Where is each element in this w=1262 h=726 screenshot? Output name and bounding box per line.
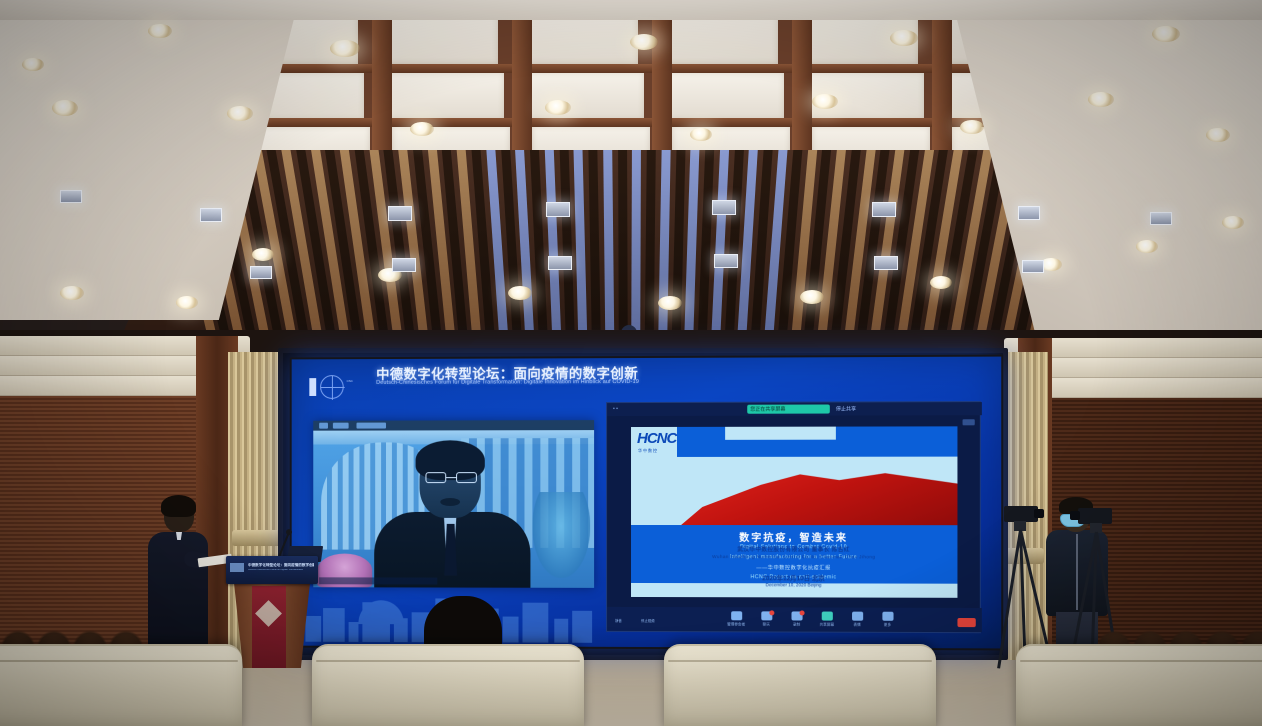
recessed-downlight-icon — [1206, 128, 1230, 142]
ceiling-slat — [631, 150, 641, 340]
more-icon — [882, 612, 893, 621]
titlebar-dots: • • — [613, 406, 618, 412]
chair-back — [312, 644, 584, 726]
square-ceiling-light-icon — [874, 256, 898, 270]
app-window-controls[interactable] — [963, 419, 975, 425]
conference-hall-scene: CSC 中德数字化转型论坛：面向疫情的数字创新 Deutsch-Chinesis… — [0, 0, 1262, 726]
toolbar-label: 共享屏幕 — [816, 623, 838, 628]
end-meeting-button[interactable] — [957, 618, 975, 627]
ceiling — [0, 0, 1262, 345]
square-ceiling-light-icon — [548, 256, 572, 270]
recessed-downlight-icon — [1222, 216, 1244, 229]
toolbar-mic-icon[interactable]: 静音 — [615, 609, 622, 627]
recessed-downlight-icon — [60, 286, 84, 300]
toolbar-label: 更多 — [876, 623, 898, 628]
screen-share-text: 您正在共享屏幕 — [750, 405, 829, 413]
hcnc-logo-mark: HCNC — [637, 431, 676, 446]
ceiling-slat — [559, 150, 576, 340]
toolbar-label: 静音 — [615, 619, 622, 623]
square-ceiling-light-icon — [388, 206, 412, 221]
ceiling-panel — [526, 72, 644, 120]
square-ceiling-light-icon — [714, 254, 738, 268]
toolbar-record-icon[interactable]: 录制 — [785, 611, 807, 627]
ceiling-beam — [932, 0, 952, 175]
hcnc-logo-sub: 华中数控 — [638, 448, 658, 454]
recessed-downlight-icon — [658, 296, 682, 310]
square-ceiling-light-icon — [1018, 206, 1040, 220]
recessed-downlight-icon — [22, 58, 44, 71]
ceiling-beam — [372, 0, 392, 175]
notification-badge — [769, 610, 774, 615]
speaker-mouth — [440, 498, 460, 506]
square-ceiling-light-icon — [392, 258, 416, 272]
square-ceiling-light-icon — [546, 202, 570, 217]
remote-speaker-video-tile[interactable] — [313, 420, 594, 588]
chair-back — [1016, 644, 1262, 726]
recessed-downlight-icon — [630, 34, 658, 50]
recessed-downlight-icon — [52, 100, 78, 116]
toolbar-share-screen-icon[interactable]: 共享屏幕 — [816, 612, 838, 628]
led-video-wall[interactable]: CSC 中德数字化转型论坛：面向疫情的数字创新 Deutsch-Chinesis… — [290, 355, 1004, 651]
recessed-downlight-icon — [330, 40, 360, 57]
recessed-downlight-icon — [545, 100, 571, 115]
recessed-downlight-icon — [890, 30, 918, 46]
lectern-banner-subtitle: Deutsch-Chinesisches Forum für Digitale … — [248, 569, 314, 571]
chair-back — [0, 644, 242, 726]
toolbar-participants-icon[interactable]: 管理参会者 — [725, 611, 747, 627]
square-ceiling-light-icon — [200, 208, 222, 222]
recessed-downlight-icon — [1136, 240, 1158, 253]
ceiling-panel — [386, 72, 504, 120]
toolbar-more-icon[interactable]: 更多 — [876, 612, 898, 628]
lectern-banner-logo-icon — [230, 563, 244, 572]
skyline-building — [554, 619, 568, 643]
presentation-slide: HCNC 华中数控 数字抗疫，智造未来 Digital Solutions to… — [631, 426, 957, 597]
slide-presenter-cn: 武汉华中数控股份有限公司 董事长 陈吉红 — [631, 545, 957, 553]
recessed-downlight-icon — [227, 106, 253, 121]
notification-badge — [800, 610, 805, 615]
forum-subtitle: Deutsch-Chinesisches Forum für Digitale … — [376, 379, 724, 386]
toolbar-label: 停止视频 — [641, 619, 655, 623]
meeting-app-window[interactable]: • • 您正在共享屏幕 停止共享 HCNC 华中数控 数字抗疫，智造未来 Dig… — [606, 401, 981, 633]
lectern-banner-title: 中德数字化转型论坛：面向疫情的数字创新 — [248, 563, 314, 568]
participants-icon — [731, 611, 742, 620]
speaker-glasses-icon — [425, 472, 476, 484]
ceiling-slat — [670, 150, 685, 340]
meeting-toolbar[interactable]: 静音停止视频管理参会者聊天录制共享屏幕表情更多 — [607, 607, 982, 632]
slide-top-band — [677, 426, 957, 457]
square-ceiling-light-icon — [250, 266, 272, 279]
recessed-downlight-icon — [812, 94, 838, 109]
skyline-building — [503, 617, 519, 643]
skyline-building — [349, 622, 359, 642]
app-titlebar: • • 您正在共享屏幕 停止共享 — [607, 402, 982, 416]
square-ceiling-light-icon — [1022, 260, 1044, 273]
lectern-banner: 中德数字化转型论坛：面向疫情的数字创新 Deutsch-Chinesisches… — [226, 556, 318, 584]
square-ceiling-light-icon — [60, 190, 82, 203]
ceiling-beam — [792, 0, 812, 175]
ceiling-beam — [652, 0, 672, 175]
toolbar-video-icon[interactable]: 停止视频 — [641, 609, 655, 627]
recessed-downlight-icon — [508, 286, 532, 300]
recessed-downlight-icon — [1152, 26, 1180, 42]
toolbar-label: 聊天 — [755, 622, 777, 627]
square-ceiling-light-icon — [1150, 212, 1172, 225]
square-ceiling-light-icon — [872, 202, 896, 217]
recessed-downlight-icon — [930, 276, 952, 289]
recessed-downlight-icon — [176, 296, 198, 309]
video-tile-toolbar — [313, 420, 594, 431]
skyline-building — [323, 608, 345, 642]
chair-back — [664, 644, 936, 726]
wooden-slat-ceiling — [120, 150, 1130, 340]
red-cloth-image — [631, 471, 957, 530]
recessed-downlight-icon — [252, 248, 274, 261]
slide-title-cn: 数字抗疫，智造未来 — [631, 529, 957, 544]
slide-presenter-en: Wuhan Huazhong Numerical Control Co.ltd,… — [631, 555, 957, 561]
hcnc-logo-icon: HCNC 华中数控 — [637, 431, 677, 457]
ceiling-slat — [657, 150, 671, 340]
recessed-downlight-icon — [690, 128, 712, 141]
recessed-downlight-icon — [148, 24, 172, 38]
forum-logo-text: CSC — [347, 379, 361, 383]
recessed-downlight-icon — [800, 290, 824, 304]
toolbar-label: 录制 — [785, 622, 807, 627]
ceiling-slat — [603, 150, 615, 340]
forum-logo-icon: CSC — [309, 375, 360, 401]
slide-subtitle-cn-2: ——华中数控数字化抗疫汇报 — [631, 564, 957, 572]
toolbar-chat-icon[interactable]: 聊天 — [755, 611, 777, 627]
ceiling-slat — [573, 150, 588, 340]
toolbar-label: 表情 — [846, 623, 868, 628]
video-tile-nameplate — [319, 577, 437, 584]
skyline-building — [522, 603, 548, 643]
stop-share-label[interactable]: 停止共享 — [836, 405, 856, 412]
toolbar-reactions-icon[interactable]: 表情 — [846, 612, 868, 628]
ceiling-slat — [644, 150, 656, 340]
ceiling-edge-top — [0, 0, 1262, 20]
potted-plant — [532, 492, 590, 578]
slide-date-en: December 10, 2020 Beijing — [631, 582, 957, 588]
skyline-building — [572, 611, 592, 643]
ceiling-slat — [588, 150, 602, 340]
toolbar-label: 管理参会者 — [725, 622, 747, 627]
recessed-downlight-icon — [960, 120, 984, 134]
ceiling-slat — [618, 150, 628, 340]
square-ceiling-light-icon — [712, 200, 736, 215]
reactions-icon — [852, 612, 863, 621]
ceiling-beam — [512, 0, 532, 175]
ceiling-panel — [666, 72, 784, 120]
recessed-downlight-icon — [410, 122, 434, 136]
share-screen-icon — [821, 612, 832, 621]
recessed-downlight-icon — [1088, 92, 1114, 107]
